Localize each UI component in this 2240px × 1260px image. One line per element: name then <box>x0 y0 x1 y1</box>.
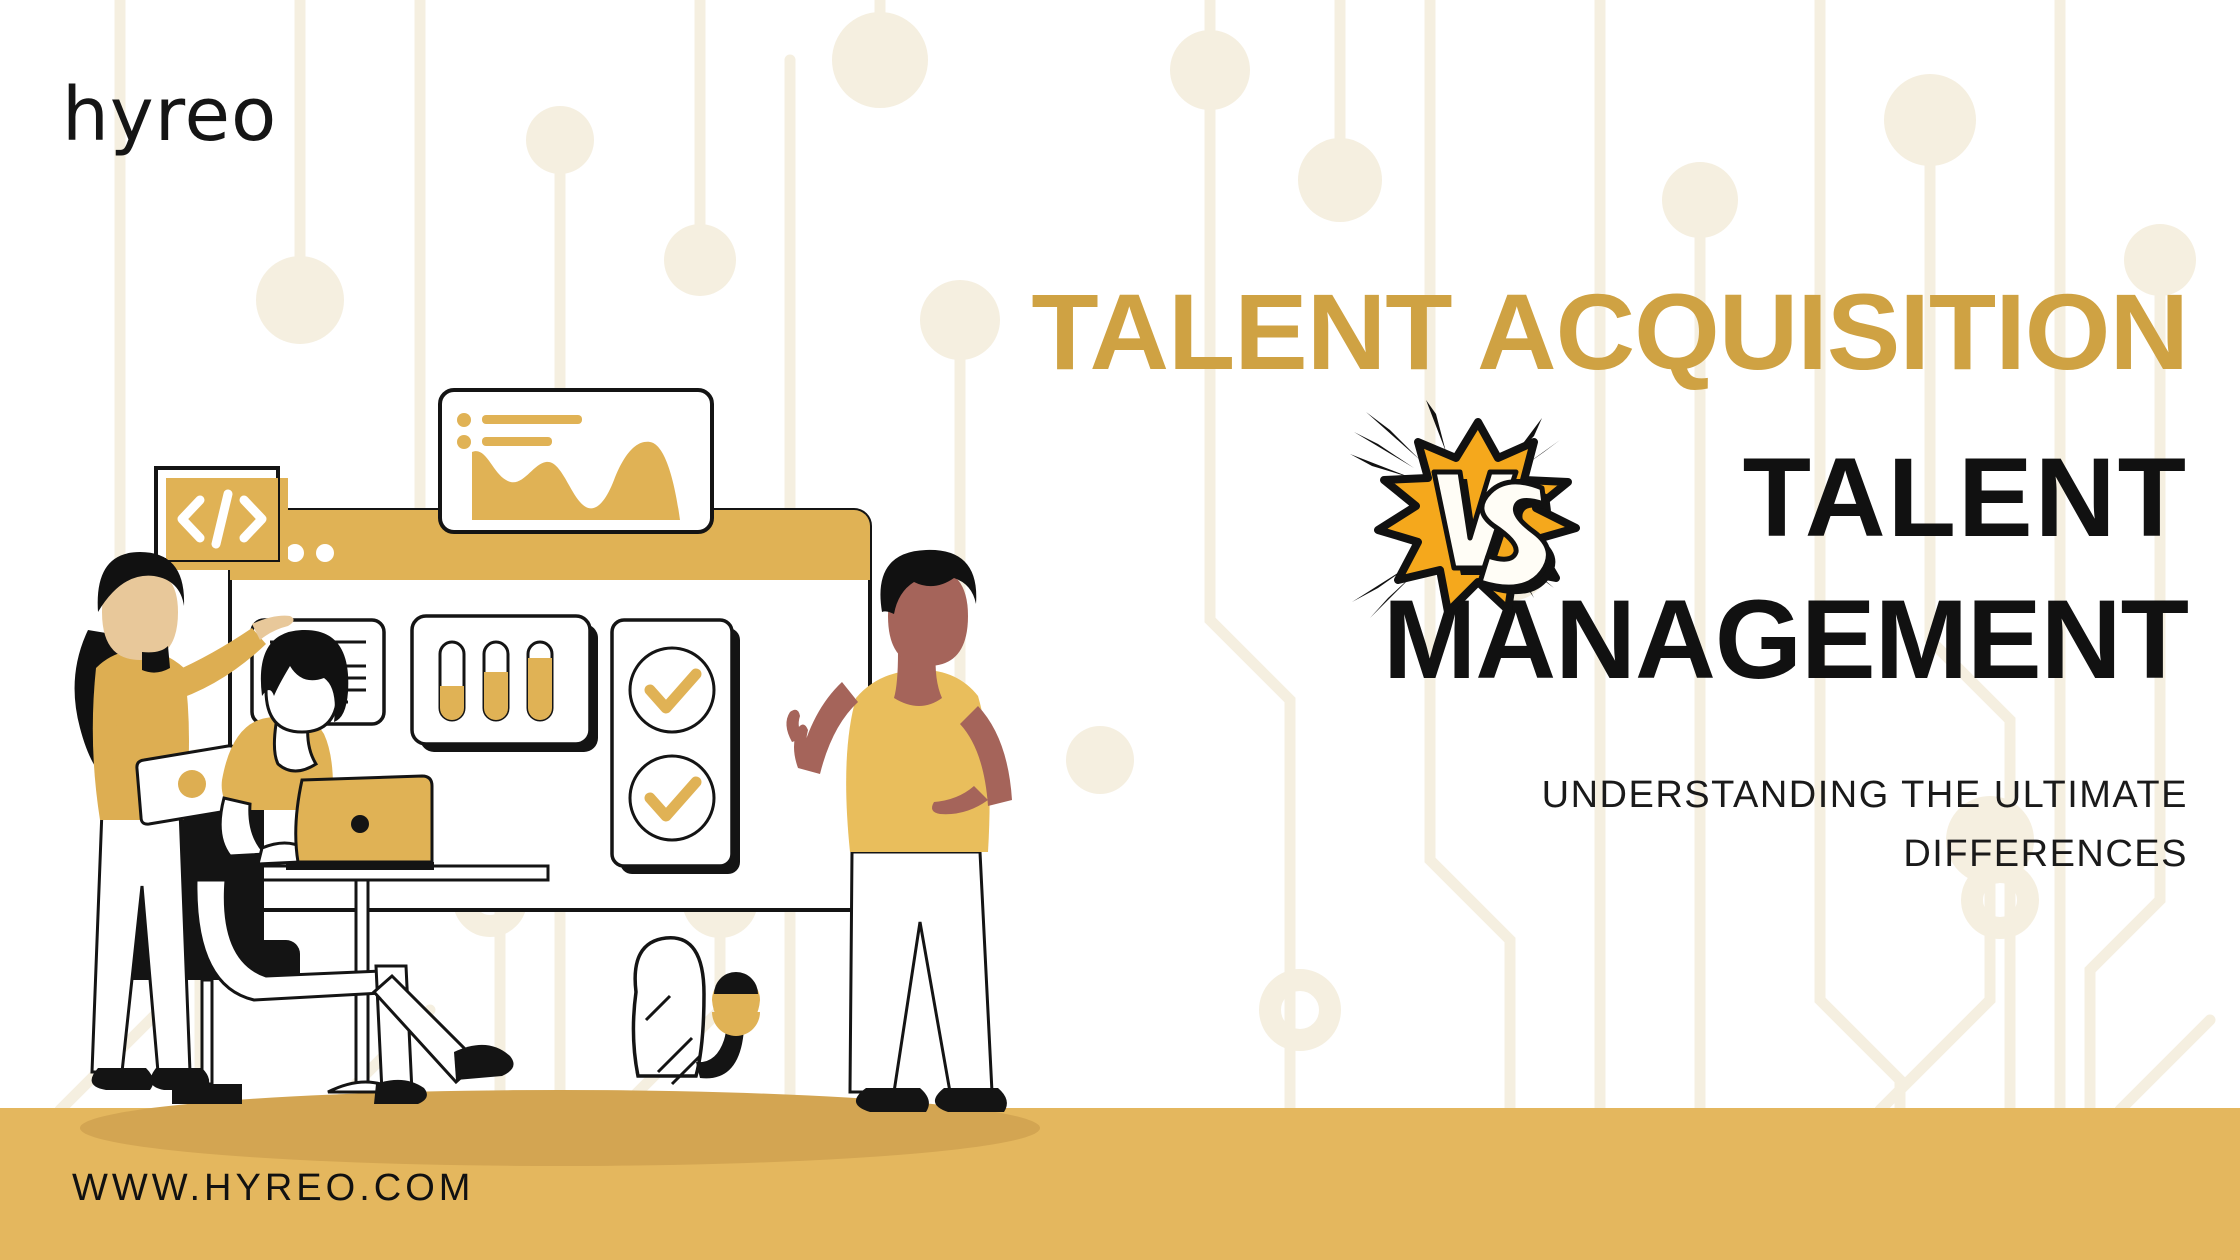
gauge-card <box>412 616 598 752</box>
headline-talent-acquisition: TALENT ACQUISITION <box>740 278 2188 386</box>
chart-bullet <box>457 413 471 427</box>
code-card <box>156 468 288 570</box>
hyreo-logo[interactable]: hyreo <box>62 78 277 152</box>
subtitle-line-2: DIFFERENCES <box>768 825 2188 884</box>
vs-burst-badge <box>1328 396 1628 636</box>
footer-website-url[interactable]: WWW.HYREO.COM <box>72 1167 474 1210</box>
chart-bullet <box>457 435 471 449</box>
gauge-bar <box>440 642 464 720</box>
chart-panel <box>440 390 712 532</box>
subtitle-block: UNDERSTANDING THE ULTIMATE DIFFERENCES <box>768 766 2188 884</box>
marketing-banner: hyreo <box>0 0 2240 1260</box>
subtitle-line-1: UNDERSTANDING THE ULTIMATE <box>768 766 2188 825</box>
gauge-bar <box>528 642 552 720</box>
gauge-bar <box>484 642 508 720</box>
cat <box>633 938 760 1084</box>
logo-wordmark: hyreo <box>62 78 277 152</box>
checklist-card <box>612 620 740 874</box>
laptop <box>286 776 434 870</box>
